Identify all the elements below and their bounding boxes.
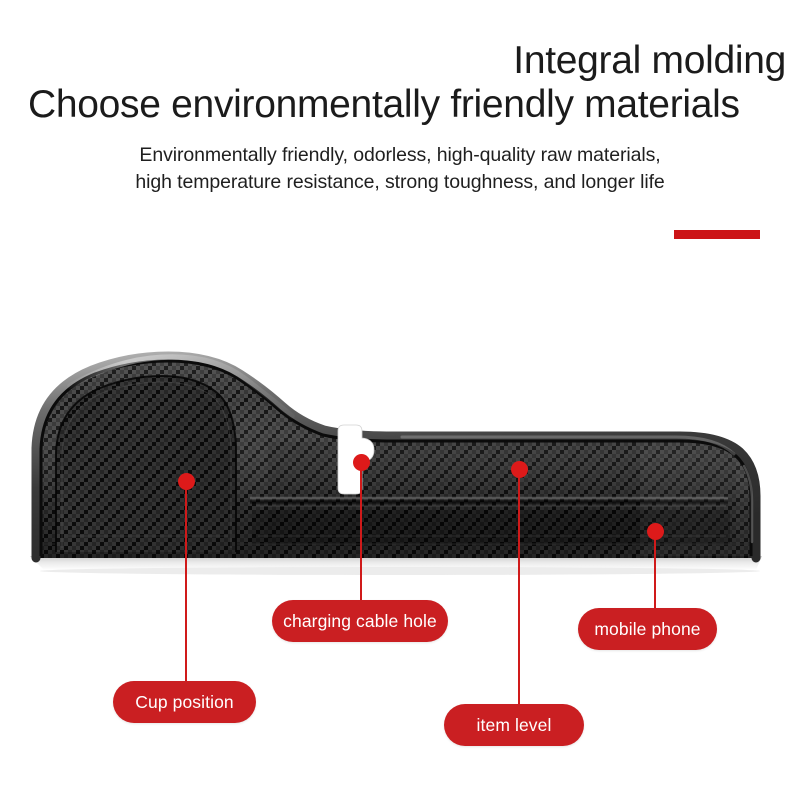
subheading-line-2: high temperature resistance, strong toug… <box>0 171 800 194</box>
callout-mobile-phone-label: mobile phone <box>594 619 700 640</box>
leader-line-mobile-phone <box>654 531 656 609</box>
marker-dot-charging-cable-hole <box>353 454 370 471</box>
marker-dot-mobile-phone <box>647 523 664 540</box>
leader-line-charging-cable-hole <box>360 462 362 600</box>
callout-charging-cable-hole[interactable]: charging cable hole <box>272 600 448 642</box>
callout-item-level-label: item level <box>477 715 552 736</box>
subheading-line-1: Environmentally friendly, odorless, high… <box>0 144 800 167</box>
callout-mobile-phone[interactable]: mobile phone <box>578 608 717 650</box>
leader-line-cup-position <box>185 481 187 681</box>
headline-primary: Integral molding <box>0 38 786 84</box>
leader-line-item-level <box>518 469 520 704</box>
callout-cup-position[interactable]: Cup position <box>113 681 256 723</box>
callout-item-level[interactable]: item level <box>444 704 584 746</box>
callout-cup-position-label: Cup position <box>135 692 233 713</box>
product-base-strip <box>30 556 762 575</box>
marketing-image-canvas: Integral molding Choose environmentally … <box>0 0 800 800</box>
marker-dot-item-level <box>511 461 528 478</box>
red-accent-bar <box>674 230 760 239</box>
marker-dot-cup-position <box>178 473 195 490</box>
headline-secondary: Choose environmentally friendly material… <box>28 82 788 128</box>
product-image <box>0 330 800 580</box>
callout-charging-cable-hole-label: charging cable hole <box>283 611 437 632</box>
